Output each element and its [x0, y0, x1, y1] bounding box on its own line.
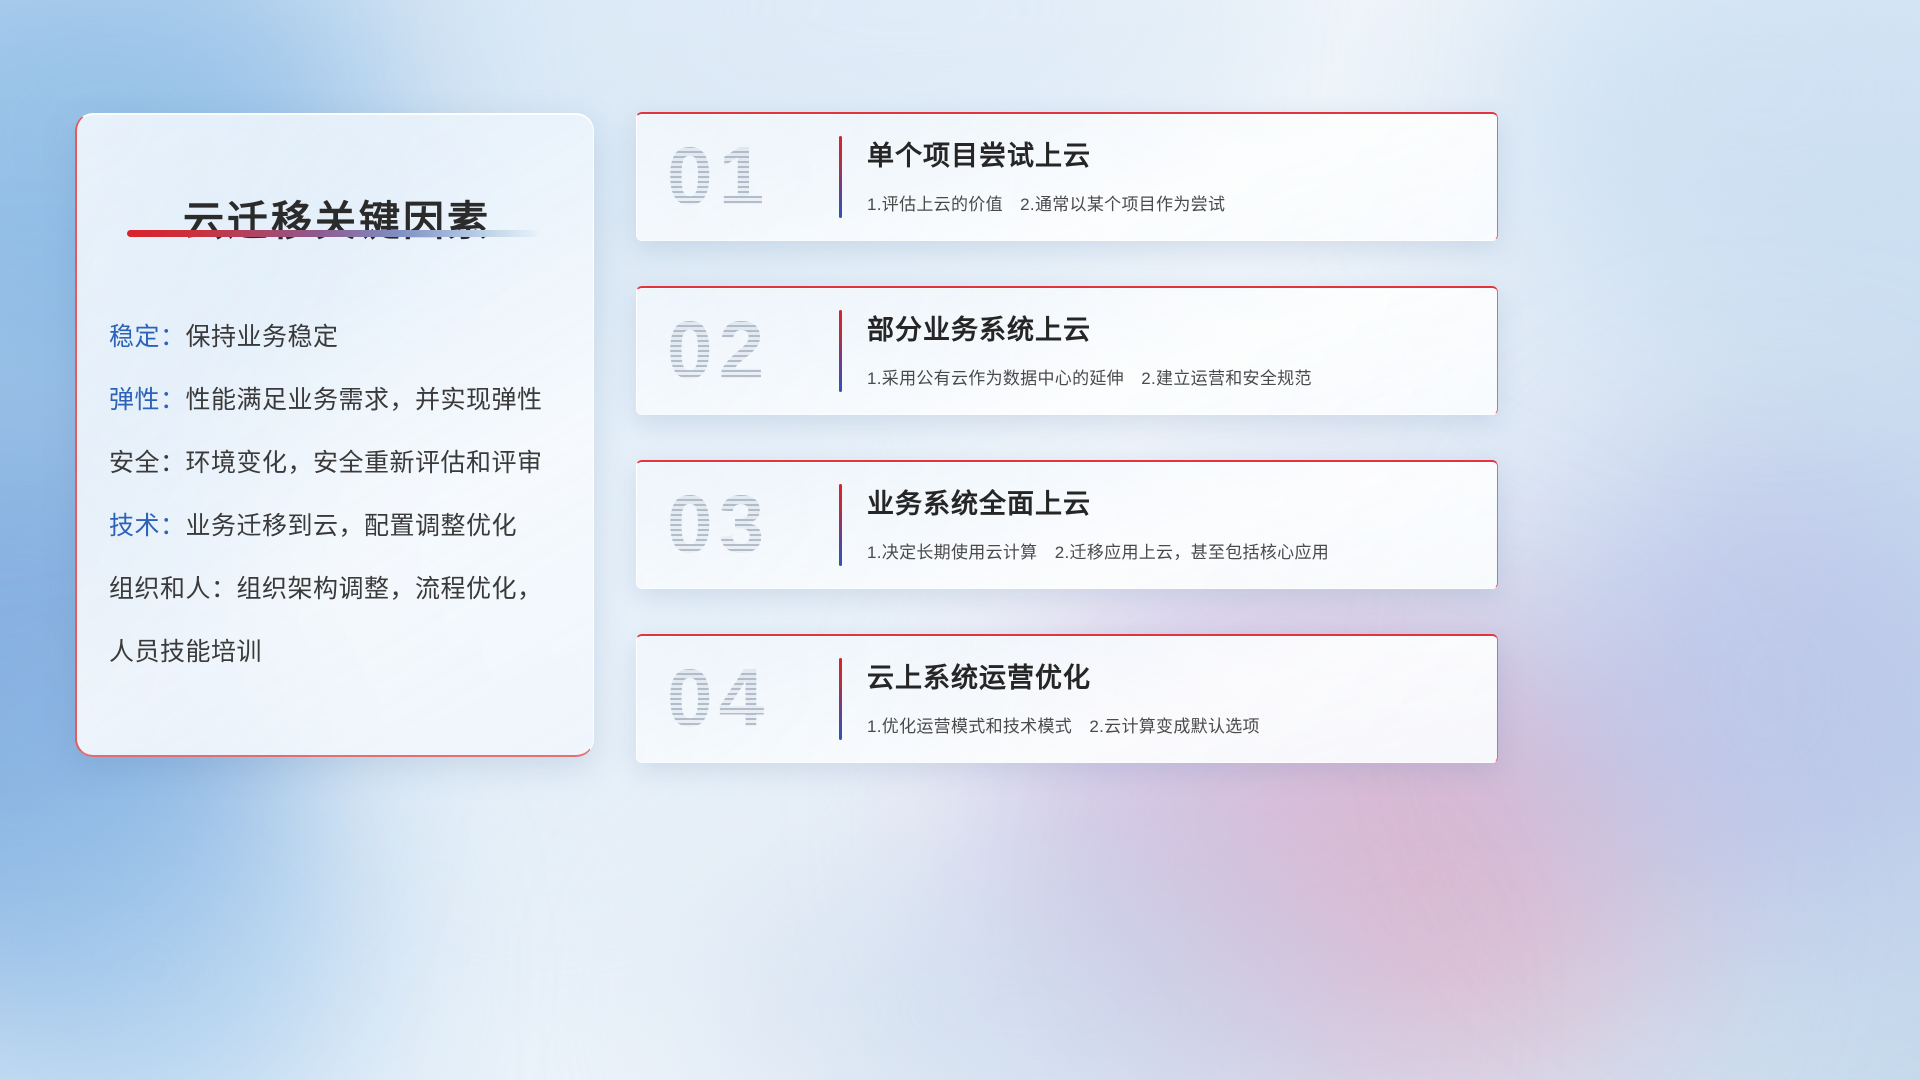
- list-item: 安全：环境变化，安全重新评估和评审: [109, 432, 575, 495]
- factor-text: 性能满足业务需求，并实现弹性: [186, 386, 543, 414]
- page-title: 云迁移关键因素: [183, 187, 491, 247]
- stage-number-03: 03: [667, 484, 770, 566]
- stage-number-02: 02: [667, 310, 770, 392]
- stage-text-block: 云上系统运营优化 1.优化运营模式和技术模式 2.云计算变成默认选项: [867, 656, 1473, 754]
- key-factors-list: 稳定：保持业务稳定 弹性：性能满足业务需求，并实现弹性 安全：环境变化，安全重新…: [109, 306, 575, 684]
- factor-label: 安全：: [109, 449, 186, 477]
- stage-number-01: 01: [667, 136, 770, 218]
- list-item: 技术：业务迁移到云，配置调整优化: [109, 495, 575, 558]
- stage-divider-accent: [839, 136, 842, 218]
- list-item: 组织和人：组织架构调整，流程优化，: [109, 558, 575, 621]
- stage-title: 云上系统运营优化: [867, 656, 1473, 695]
- stage-description: 1.评估上云的价值 2.通常以某个项目作为尝试: [867, 190, 1473, 215]
- list-item: 稳定：保持业务稳定: [109, 306, 575, 369]
- stage-description: 1.决定长期使用云计算 2.迁移应用上云，甚至包括核心应用: [867, 538, 1473, 563]
- stage-title: 部分业务系统上云: [867, 308, 1473, 347]
- factor-label: 弹性：: [109, 386, 186, 414]
- factor-label: 技术：: [109, 512, 186, 540]
- stage-card-02[interactable]: 02 部分业务系统上云 1.采用公有云作为数据中心的延伸 2.建立运营和安全规范: [636, 286, 1498, 415]
- stage-card-01[interactable]: 01 单个项目尝试上云 1.评估上云的价值 2.通常以某个项目作为尝试: [636, 112, 1498, 241]
- factor-text: 人员技能培训: [109, 638, 262, 666]
- stage-text-block: 单个项目尝试上云 1.评估上云的价值 2.通常以某个项目作为尝试: [867, 134, 1473, 232]
- stage-title: 单个项目尝试上云: [867, 134, 1473, 173]
- factor-text: 环境变化，安全重新评估和评审: [186, 449, 543, 477]
- stage-divider-accent: [839, 310, 842, 392]
- list-item: 人员技能培训: [109, 621, 575, 684]
- key-factors-panel: 云迁移关键因素 稳定：保持业务稳定 弹性：性能满足业务需求，并实现弹性 安全：环…: [75, 113, 594, 757]
- stage-card-04[interactable]: 04 云上系统运营优化 1.优化运营模式和技术模式 2.云计算变成默认选项: [636, 634, 1498, 763]
- stage-divider-accent: [839, 484, 842, 566]
- stage-text-block: 部分业务系统上云 1.采用公有云作为数据中心的延伸 2.建立运营和安全规范: [867, 308, 1473, 406]
- list-item: 弹性：性能满足业务需求，并实现弹性: [109, 369, 575, 432]
- factor-label: 组织和人：: [109, 575, 237, 603]
- factor-text: 组织架构调整，流程优化，: [237, 575, 543, 603]
- title-underline-accent: [127, 230, 539, 237]
- stage-divider-accent: [839, 658, 842, 740]
- migration-stages-list: 01 单个项目尝试上云 1.评估上云的价值 2.通常以某个项目作为尝试 02 部…: [636, 112, 1496, 808]
- stage-title: 业务系统全面上云: [867, 482, 1473, 521]
- factor-text: 业务迁移到云，配置调整优化: [186, 512, 518, 540]
- stage-number-04: 04: [667, 658, 770, 740]
- factor-label: 稳定：: [109, 323, 186, 351]
- stage-card-03[interactable]: 03 业务系统全面上云 1.决定长期使用云计算 2.迁移应用上云，甚至包括核心应…: [636, 460, 1498, 589]
- stage-text-block: 业务系统全面上云 1.决定长期使用云计算 2.迁移应用上云，甚至包括核心应用: [867, 482, 1473, 580]
- stage-description: 1.优化运营模式和技术模式 2.云计算变成默认选项: [867, 712, 1473, 737]
- factor-text: 保持业务稳定: [186, 323, 339, 351]
- stage-description: 1.采用公有云作为数据中心的延伸 2.建立运营和安全规范: [867, 364, 1473, 389]
